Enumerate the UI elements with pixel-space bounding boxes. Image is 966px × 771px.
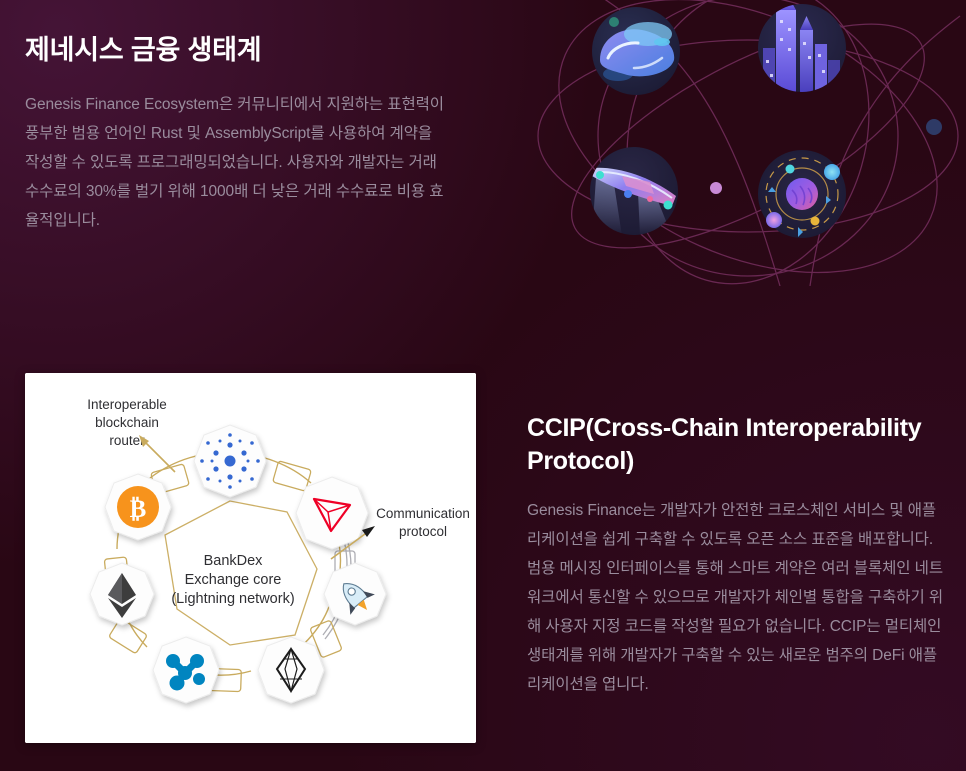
ufo-circle: [592, 7, 680, 95]
ethereum-node: [90, 563, 154, 625]
protocol-label-line-2: protocol: [399, 524, 447, 539]
router-label-line-2: blockchain: [95, 415, 159, 430]
protocol-label-line-1: Communication: [376, 506, 470, 521]
center-label-line-2: Exchange core: [185, 572, 282, 588]
cardano-node: [194, 425, 266, 497]
center-label-line-1: BankDex: [204, 553, 264, 569]
bitcoin-node: ₿: [105, 474, 171, 540]
ecosystem-text-block: 제네시스 금융 생태계 Genesis Finance Ecosystem은 커…: [25, 34, 445, 235]
tron-node: [296, 477, 368, 549]
ccip-paragraph: Genesis Finance는 개발자가 안전한 크로스체인 서비스 및 애플…: [527, 496, 945, 699]
floating-dot-right: [926, 119, 942, 135]
router-label-line-1: Interoperable: [87, 397, 167, 412]
ccip-text-block: CCIP(Cross-Chain Interoperability Protoc…: [527, 412, 945, 699]
floating-dot-small: [710, 182, 722, 194]
space-network-illustration: [530, 0, 966, 286]
ecosystem-paragraph: Genesis Finance Ecosystem은 커뮤니티에서 지원하는 표…: [25, 90, 445, 235]
page-root: 제네시스 금융 생태계 Genesis Finance Ecosystem은 커…: [0, 0, 966, 771]
router-label-line-3: router: [109, 433, 145, 448]
ccip-title: CCIP(Cross-Chain Interoperability Protoc…: [527, 412, 945, 477]
svg-text:₿: ₿: [130, 496, 147, 523]
planet-orbit-circle: [758, 150, 846, 238]
ripple-node: [153, 637, 219, 703]
page-title: 제네시스 금융 생태계: [25, 34, 445, 68]
center-label-line-3: (Lightning network): [171, 591, 294, 607]
rocket-node: [324, 563, 386, 625]
spaceship-circle: [590, 147, 678, 236]
eos-node: [258, 637, 324, 703]
bankdex-interoperability-diagram: ₿ BankDex Exchange core (Lightning netwo…: [25, 373, 476, 743]
